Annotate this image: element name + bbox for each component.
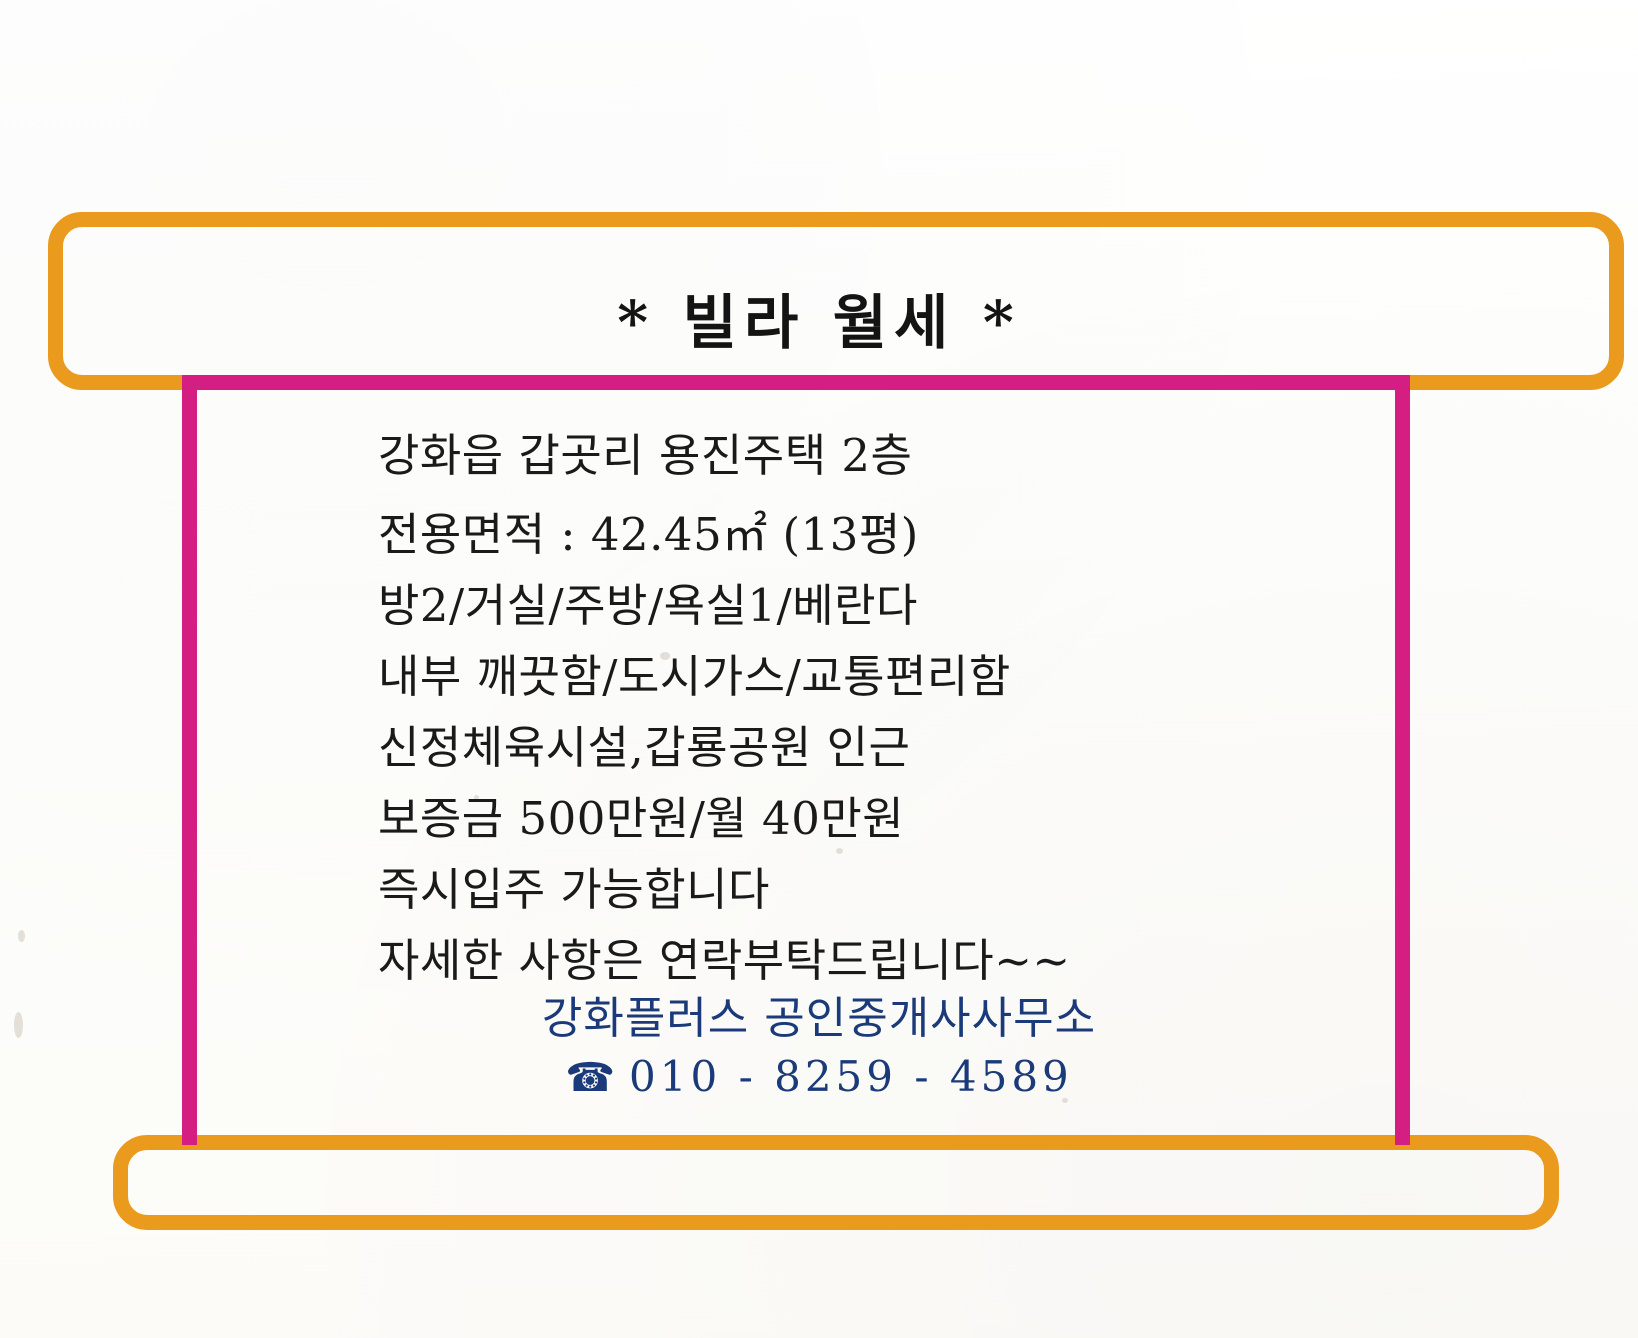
agency-name: 강화플러스 공인중개사사무소 <box>0 982 1638 1046</box>
phone-number: 010 - 8259 - 4589 <box>629 1052 1073 1101</box>
area-suffix: (13평) <box>768 508 919 561</box>
body-line-nearby: 신정체육시설,갑룡공원 인근 <box>378 712 1378 783</box>
body-line-price: 보증금 500만원/월 40만원 <box>378 783 1378 854</box>
flyer-body: 강화읍 갑곳리 용진주택 2층 전용면적 : 42.45㎡ (13평) 방2/거… <box>378 420 1378 996</box>
body-line-area: 전용면적 : 42.45㎡ (13평) <box>378 491 1378 570</box>
magenta-top-rule <box>182 375 1410 390</box>
telephone-icon: ☎ <box>565 1055 615 1101</box>
area-prefix: 전용면적 : 42.45㎡ <box>378 508 768 561</box>
body-line-movein: 즉시입주 가능합니다 <box>378 854 1378 925</box>
body-line-features: 내부 깨끗함/도시가스/교통편리함 <box>378 641 1378 712</box>
flyer-title: * 빌라 월세 * <box>0 275 1638 360</box>
body-line-address: 강화읍 갑곳리 용진주택 2층 <box>378 420 1378 491</box>
body-line-rooms: 방2/거실/주방/욕실1/베란다 <box>378 570 1378 641</box>
phone-line[interactable]: ☎010 - 8259 - 4589 <box>0 1052 1638 1101</box>
scan-speck <box>18 930 25 942</box>
flyer-page: * 빌라 월세 * 강화읍 갑곳리 용진주택 2층 전용면적 : 42.45㎡ … <box>0 0 1638 1338</box>
bottom-orange-frame <box>113 1135 1559 1230</box>
